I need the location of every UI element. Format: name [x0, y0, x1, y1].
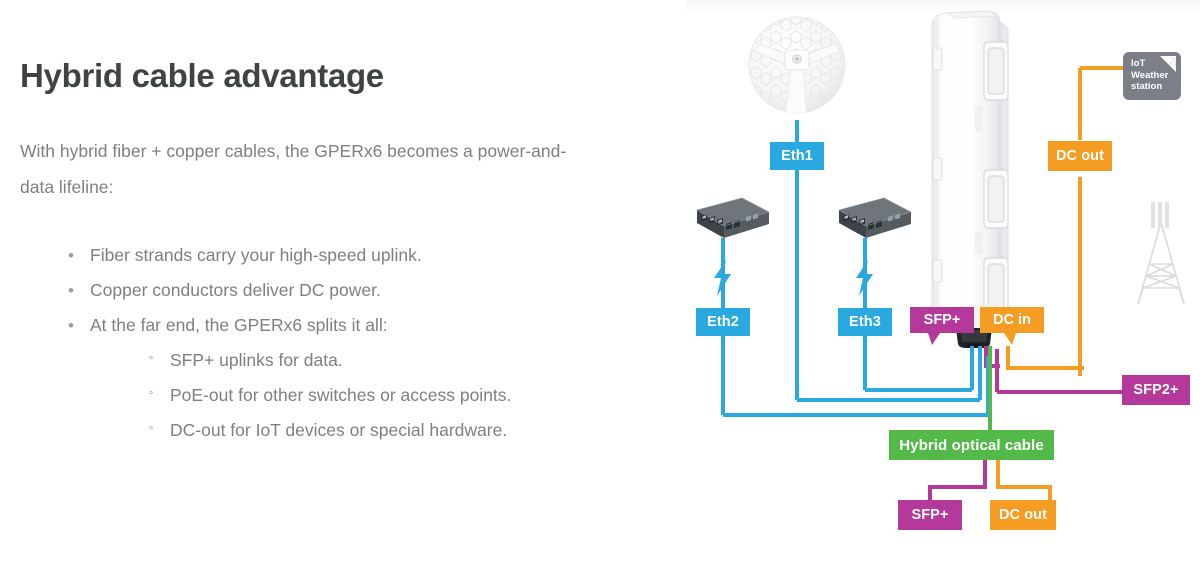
label-sfp-plus-device-text: SFP+ [910, 307, 974, 333]
label-sfp2-plus[interactable]: SFP2+ [1122, 375, 1190, 405]
label-eth2-text: Eth2 [707, 315, 739, 330]
label-dc-out-top[interactable]: DC out [1048, 141, 1112, 171]
bullet-text: DC-out for IoT devices or special hardwa… [170, 413, 640, 448]
label-dc-out-bottom[interactable]: DC out [990, 500, 1056, 530]
list-item: • Copper conductors deliver DC power. [20, 273, 640, 308]
label-dc-out-bottom-text: DC out [999, 508, 1047, 523]
intro-paragraph: With hybrid fiber + copper cables, the G… [20, 133, 600, 205]
hybrid-connector-strands [960, 346, 1100, 372]
network-switch-icon [680, 196, 772, 244]
label-sfp-plus-device[interactable]: SFP+ [910, 307, 974, 345]
label-eth3[interactable]: Eth3 [838, 308, 892, 336]
iot-weather-station-device: IoT Weather station [1123, 52, 1181, 100]
label-eth1[interactable]: Eth1 [770, 142, 824, 170]
bullet-text: SFP+ uplinks for data. [170, 343, 640, 378]
label-eth3-text: Eth3 [849, 315, 881, 330]
label-dc-in-text: DC in [980, 307, 1044, 333]
list-item: ° SFP+ uplinks for data. [20, 343, 640, 378]
weather-gauge-icon [1159, 56, 1177, 74]
poe-lightning-icon [852, 260, 878, 296]
bullet-text: Fiber strands carry your high-speed upli… [90, 238, 640, 273]
bullet-text: Copper conductors deliver DC power. [90, 273, 640, 308]
label-eth1-text: Eth1 [781, 149, 813, 164]
label-sfp-plus-bottom-text: SFP+ [911, 508, 948, 523]
bullet-list: • Fiber strands carry your high-speed up… [20, 238, 640, 448]
gperx6-enclosure-icon [900, 8, 1028, 348]
bullet-marker: • [52, 273, 90, 308]
list-item: ° DC-out for IoT devices or special hard… [20, 413, 640, 448]
label-sfp2-plus-text: SFP2+ [1133, 383, 1178, 398]
text-column: Hybrid cable advantage With hybrid fiber… [0, 0, 660, 563]
bullet-marker: ° [132, 378, 170, 413]
bullet-text: At the far end, the GPERx6 splits it all… [90, 308, 640, 343]
label-dc-out-top-text: DC out [1056, 149, 1104, 164]
iot-label-line3: station [1131, 81, 1173, 93]
network-diagram: IoT Weather station Eth1 [660, 0, 1200, 563]
list-item: ° PoE-out for other switches or access p… [20, 378, 640, 413]
slide-root: Hybrid cable advantage With hybrid fiber… [0, 0, 1200, 563]
cell-tower-icon [1132, 200, 1190, 310]
label-hybrid-optical-cable-text: Hybrid optical cable [899, 438, 1044, 453]
list-item: • At the far end, the GPERx6 splits it a… [20, 308, 640, 343]
bullet-marker: • [52, 238, 90, 273]
label-dc-in[interactable]: DC in [980, 307, 1044, 345]
label-sfp-plus-bottom[interactable]: SFP+ [898, 500, 962, 530]
bullet-marker: • [52, 308, 90, 343]
label-hybrid-optical-cable[interactable]: Hybrid optical cable [889, 430, 1054, 460]
poe-lightning-icon [710, 260, 736, 296]
list-item: • Fiber strands carry your high-speed up… [20, 238, 640, 273]
dish-antenna-icon [745, 14, 850, 124]
label-eth2[interactable]: Eth2 [696, 308, 750, 336]
bullet-marker: ° [132, 343, 170, 378]
bullet-text: PoE-out for other switches or access poi… [170, 378, 640, 413]
page-title: Hybrid cable advantage [20, 57, 384, 95]
bullet-marker: ° [132, 413, 170, 448]
